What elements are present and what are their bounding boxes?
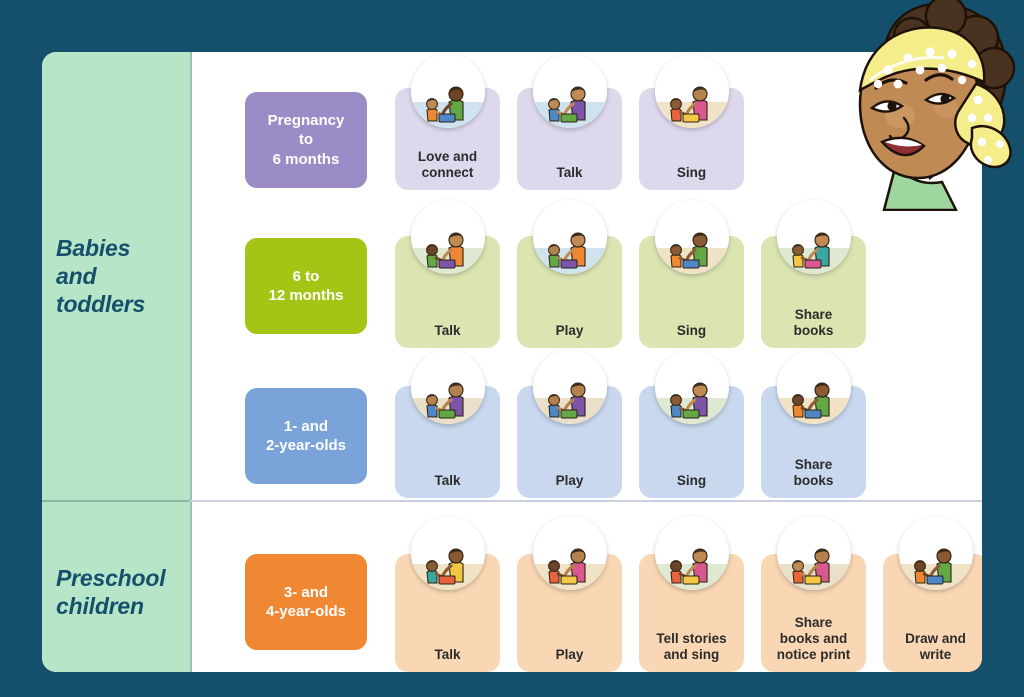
age-row-6-to-12-months: 6 to 12 months Talk bbox=[190, 200, 982, 350]
activity-card-label: Play bbox=[517, 473, 622, 498]
activity-card[interactable]: Love and connect bbox=[395, 88, 500, 190]
activity-card-label: Talk bbox=[395, 473, 500, 498]
adult-bathing-two-babies-icon bbox=[411, 200, 485, 274]
parent-and-child-drawing-icon bbox=[899, 516, 973, 590]
activity-card-label: Talk bbox=[395, 647, 500, 672]
activity-card[interactable]: Play bbox=[517, 236, 622, 348]
group-label-babies: Babies and toddlers bbox=[56, 234, 186, 318]
activity-card-label: Share books bbox=[761, 307, 866, 348]
activity-card[interactable]: Talk bbox=[395, 236, 500, 348]
activity-card[interactable]: Tell stories and sing bbox=[639, 554, 744, 672]
activity-card-list: Talk Play bbox=[395, 554, 982, 672]
activity-card-label: Share books and notice print bbox=[761, 615, 866, 672]
mother-and-baby-reading-on-mat-icon bbox=[777, 200, 851, 274]
mother-in-armchair-with-children-icon bbox=[533, 350, 607, 424]
two-children-playing-with-box-icon bbox=[533, 516, 607, 590]
age-row-1-and-2-year-olds: 1- and 2-year-olds Talk bbox=[190, 350, 982, 500]
activity-card-label: Sing bbox=[639, 323, 744, 348]
father-and-child-reading-book-icon bbox=[777, 516, 851, 590]
group-label-preschool: Preschool children bbox=[56, 564, 186, 620]
teacher-telling-story-to-child-icon bbox=[655, 516, 729, 590]
activity-card[interactable]: Share books and notice print bbox=[761, 554, 866, 672]
woman-in-headscarf-talking-with-child-icon bbox=[411, 516, 485, 590]
activity-card[interactable]: Sing bbox=[639, 386, 744, 498]
age-badge-3-and-4-year-olds[interactable]: 3- and 4-year-olds bbox=[245, 554, 367, 650]
four-children-dancing-icon bbox=[655, 350, 729, 424]
activity-card-list: Love and connect Talk bbox=[395, 88, 744, 190]
mother-carrying-baby-on-back-icon bbox=[533, 54, 607, 128]
mother-with-toddler-and-toys-icon bbox=[533, 200, 607, 274]
father-lying-with-baby-icon bbox=[655, 200, 729, 274]
age-row-3-and-4-year-olds: 3- and 4-year-olds Talk bbox=[190, 502, 982, 672]
infographic-root: Babies and toddlers Preschool children P… bbox=[0, 0, 1024, 697]
activity-card[interactable]: Draw and write bbox=[883, 554, 982, 672]
activity-card[interactable]: Talk bbox=[395, 554, 500, 672]
activity-card-label: Sing bbox=[639, 473, 744, 498]
activity-card[interactable]: Talk bbox=[395, 386, 500, 498]
activity-card[interactable]: Share books bbox=[761, 386, 866, 498]
activity-card-label: Talk bbox=[395, 323, 500, 348]
activity-card-label: Draw and write bbox=[883, 631, 982, 672]
activity-card[interactable]: Play bbox=[517, 386, 622, 498]
activity-card-label: Love and connect bbox=[395, 149, 500, 190]
age-row-pregnancy-to-6-months: Pregnancy to 6 months Love and bbox=[190, 52, 982, 200]
main-panel: Babies and toddlers Preschool children P… bbox=[42, 52, 982, 672]
activity-card[interactable]: Share books bbox=[761, 236, 866, 348]
age-badge-pregnancy-to-6-months[interactable]: Pregnancy to 6 months bbox=[245, 92, 367, 188]
section-divider-mint bbox=[42, 500, 190, 502]
activity-card[interactable]: Sing bbox=[639, 88, 744, 190]
two-pregnant-women-walking-icon bbox=[411, 54, 485, 128]
activity-card-list: Talk Play bbox=[395, 386, 866, 498]
mother-and-child-reading-on-bench-icon bbox=[777, 350, 851, 424]
activity-card-label: Sing bbox=[639, 165, 744, 190]
activity-card[interactable]: Play bbox=[517, 554, 622, 672]
father-talking-with-toddler-icon bbox=[411, 350, 485, 424]
activity-card-label: Talk bbox=[517, 165, 622, 190]
activity-card-list: Talk Play bbox=[395, 236, 866, 348]
activity-card[interactable]: Sing bbox=[639, 236, 744, 348]
activity-card-label: Tell stories and sing bbox=[639, 631, 744, 672]
mother-leaning-over-baby-icon bbox=[655, 54, 729, 128]
activity-card-label: Share books bbox=[761, 457, 866, 498]
age-badge-6-to-12-months[interactable]: 6 to 12 months bbox=[245, 238, 367, 334]
activity-card-label: Play bbox=[517, 647, 622, 672]
activity-card-label: Play bbox=[517, 323, 622, 348]
activity-card[interactable]: Talk bbox=[517, 88, 622, 190]
age-badge-1-and-2-year-olds[interactable]: 1- and 2-year-olds bbox=[245, 388, 367, 484]
